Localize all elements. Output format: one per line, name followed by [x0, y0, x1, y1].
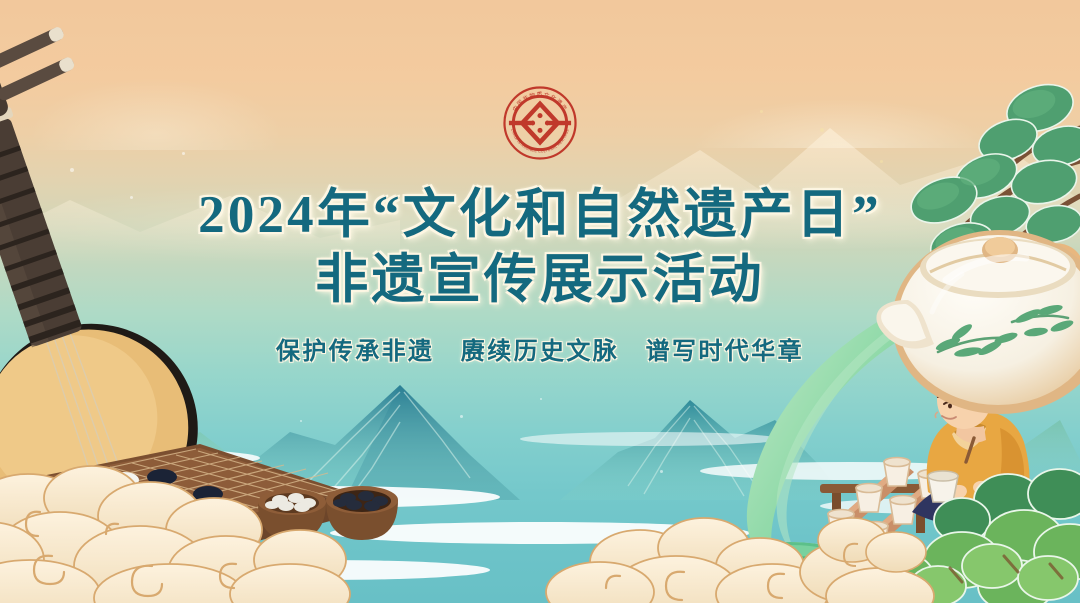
sky-haze-left: [20, 0, 360, 150]
poster-title-line2: 非遗宣传展示活动: [0, 251, 1080, 310]
heritage-emblem[interactable]: 中国非物质文化遗产 CHINA INTANGIBLE CULTURAL HERI…: [503, 86, 577, 160]
sparkle: [660, 470, 663, 473]
sparkle: [460, 415, 463, 418]
mist-band: [700, 462, 1000, 480]
mist-band: [160, 560, 490, 580]
sparkle: [880, 160, 883, 163]
poster-title-line1: 2024年“文化和自然遗产日”: [0, 186, 1080, 245]
sparkle: [540, 398, 542, 400]
sparkle: [820, 128, 824, 132]
sky-haze-right: [630, 18, 1050, 148]
sparkle: [70, 168, 74, 172]
poster-canvas: 中国非物质文化遗产 CHINA INTANGIBLE CULTURAL HERI…: [0, 0, 1080, 603]
mist-band: [140, 486, 500, 508]
sparkle: [300, 420, 302, 422]
poster-subtitle: 保护传承非遗 赓续历史文脉 谱写时代华章: [0, 331, 1080, 366]
mist-band: [330, 522, 750, 544]
mist-band: [0, 448, 260, 468]
sparkle: [760, 110, 763, 113]
mist-band: [820, 498, 1060, 514]
mist-band: [520, 432, 780, 446]
sparkle: [182, 152, 185, 155]
title-block: 2024年“文化和自然遗产日” 非遗宣传展示活动 保护传承非遗 赓续历史文脉 谱…: [0, 186, 1080, 366]
